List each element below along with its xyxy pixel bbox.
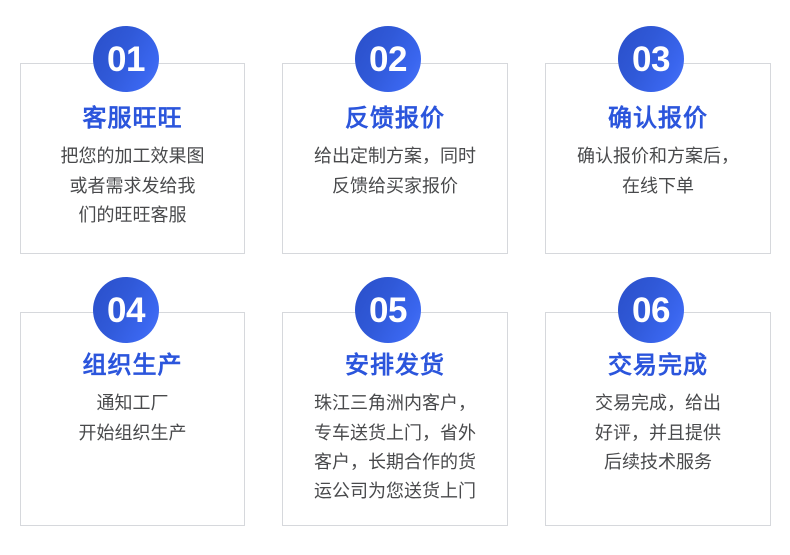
step-card-02: 反馈报价 给出定制方案，同时 反馈给买家报价 xyxy=(282,63,508,254)
step-content-04: 组织生产 通知工厂 开始组织生产 xyxy=(21,353,244,448)
step-number-04: 04 xyxy=(107,293,145,328)
step-description-01: 把您的加工效果图 或者需求发给我 们的旺旺客服 xyxy=(21,142,244,229)
step-content-05: 安排发货 珠江三角洲内客户， 专车送货上门，省外 客户，长期合作的货 运公司为您… xyxy=(283,353,507,506)
step-description-05: 珠江三角洲内客户， 专车送货上门，省外 客户，长期合作的货 运公司为您送货上门 xyxy=(283,389,507,506)
step-badge-06: 06 xyxy=(618,277,684,343)
step-number-06: 06 xyxy=(632,293,670,328)
step-card-03: 确认报价 确认报价和方案后， 在线下单 xyxy=(545,63,771,254)
step-badge-04: 04 xyxy=(93,277,159,343)
step-title-03: 确认报价 xyxy=(546,106,770,132)
step-description-02: 给出定制方案，同时 反馈给买家报价 xyxy=(283,142,507,200)
step-description-04: 通知工厂 开始组织生产 xyxy=(21,389,244,447)
step-description-06: 交易完成，给出 好评，并且提供 后续技术服务 xyxy=(546,389,770,476)
step-badge-02: 02 xyxy=(355,26,421,92)
step-title-06: 交易完成 xyxy=(546,353,770,379)
step-card-grid: 客服旺旺 把您的加工效果图 或者需求发给我 们的旺旺客服 01 反馈报价 给出定… xyxy=(0,0,790,555)
step-title-01: 客服旺旺 xyxy=(21,106,244,132)
step-card-04: 组织生产 通知工厂 开始组织生产 xyxy=(20,312,245,526)
step-card-05: 安排发货 珠江三角洲内客户， 专车送货上门，省外 客户，长期合作的货 运公司为您… xyxy=(282,312,508,526)
process-flow-diagram: 客服旺旺 把您的加工效果图 或者需求发给我 们的旺旺客服 01 反馈报价 给出定… xyxy=(0,0,790,555)
step-card-01: 客服旺旺 把您的加工效果图 或者需求发给我 们的旺旺客服 xyxy=(20,63,245,254)
step-title-04: 组织生产 xyxy=(21,353,244,379)
step-content-03: 确认报价 确认报价和方案后， 在线下单 xyxy=(546,106,770,201)
step-number-05: 05 xyxy=(369,293,407,328)
step-badge-01: 01 xyxy=(93,26,159,92)
step-title-05: 安排发货 xyxy=(283,353,507,379)
step-badge-05: 05 xyxy=(355,277,421,343)
step-content-06: 交易完成 交易完成，给出 好评，并且提供 后续技术服务 xyxy=(546,353,770,477)
step-content-01: 客服旺旺 把您的加工效果图 或者需求发给我 们的旺旺客服 xyxy=(21,106,244,230)
step-badge-03: 03 xyxy=(618,26,684,92)
step-content-02: 反馈报价 给出定制方案，同时 反馈给买家报价 xyxy=(283,106,507,201)
step-number-03: 03 xyxy=(632,42,670,77)
step-number-01: 01 xyxy=(107,42,145,77)
step-description-03: 确认报价和方案后， 在线下单 xyxy=(546,142,770,200)
step-card-06: 交易完成 交易完成，给出 好评，并且提供 后续技术服务 xyxy=(545,312,771,526)
step-number-02: 02 xyxy=(369,42,407,77)
step-title-02: 反馈报价 xyxy=(283,106,507,132)
